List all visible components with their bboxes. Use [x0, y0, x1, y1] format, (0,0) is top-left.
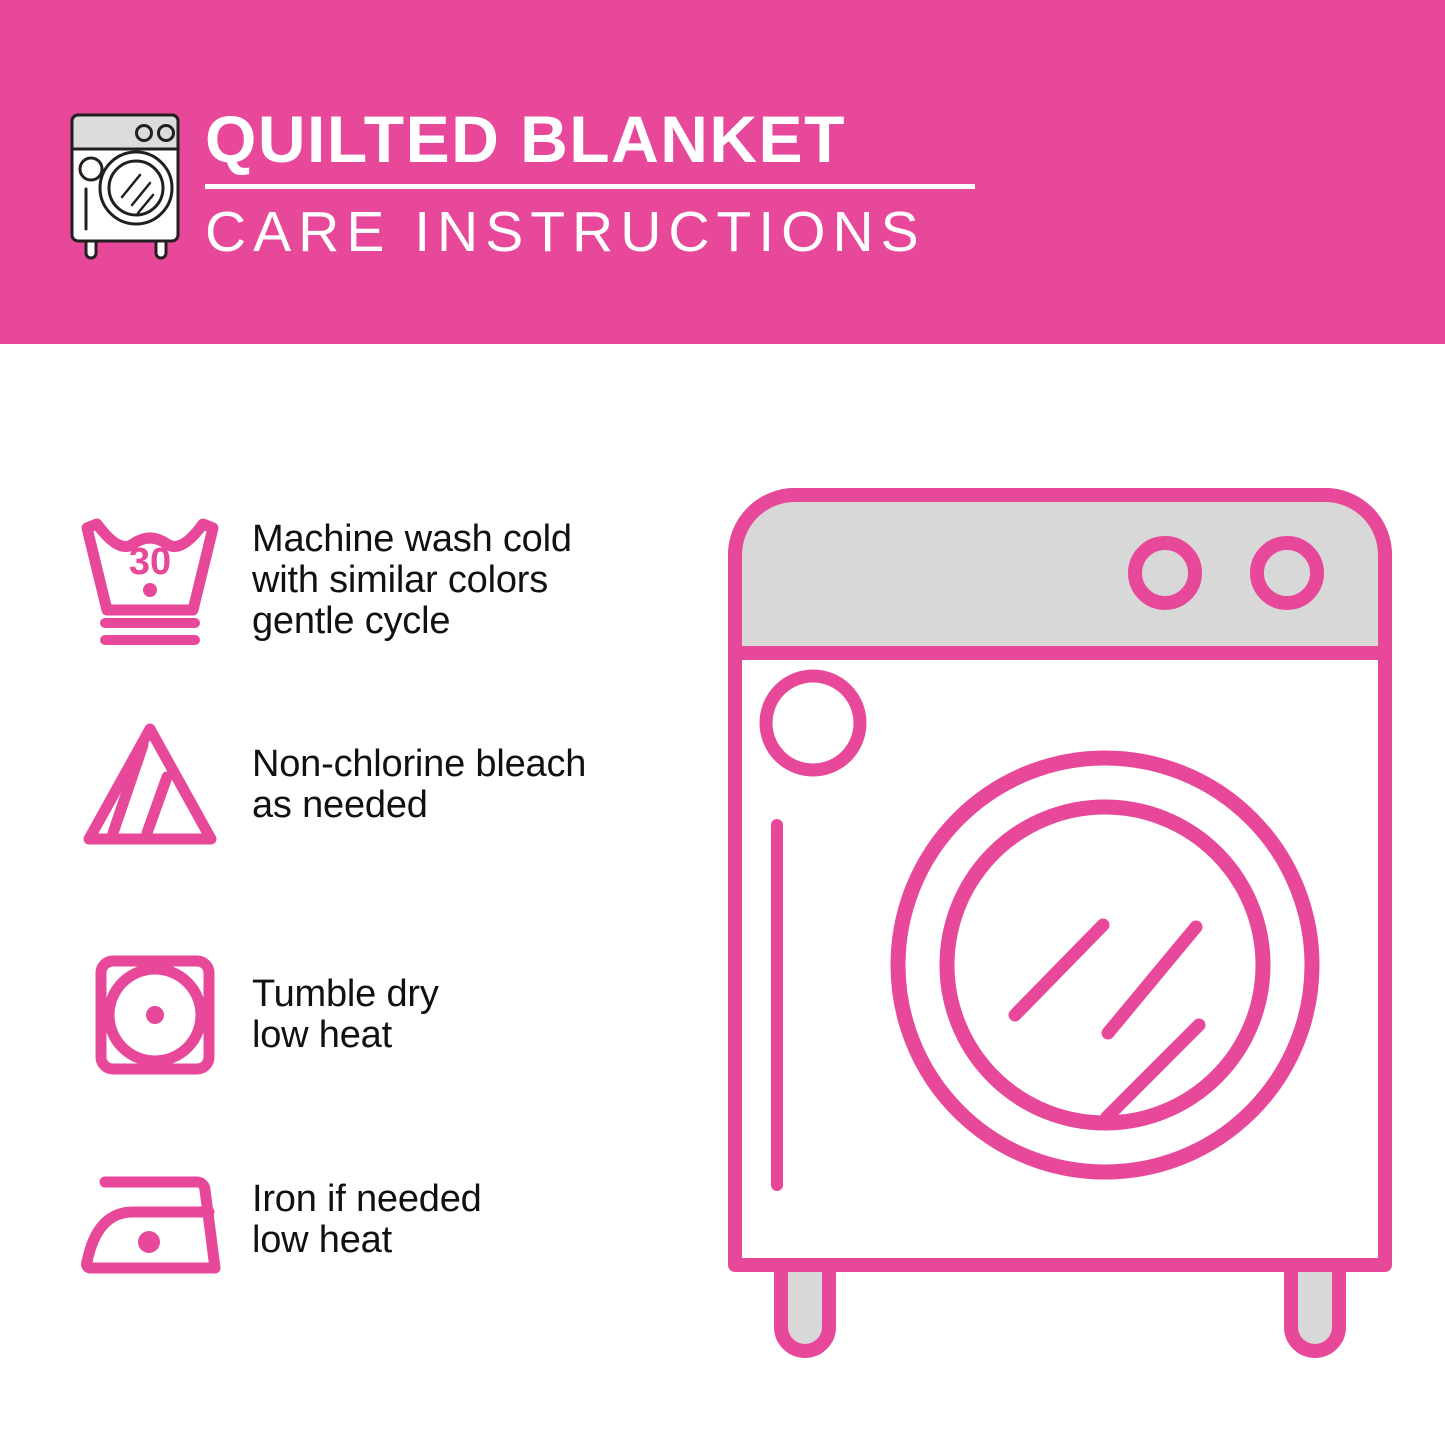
care-instructions-infographic: QUILTED BLANKET CARE INSTRUCTIONS 30 Mac…	[0, 0, 1445, 1445]
care-line: Tumble dry	[252, 974, 439, 1015]
care-row-bleach: Non-chlorine bleach as needed	[60, 705, 680, 865]
washing-machine-logo-icon	[60, 103, 190, 263]
care-line: Iron if needed	[252, 1179, 482, 1220]
header-banner: QUILTED BLANKET CARE INSTRUCTIONS	[0, 0, 1445, 344]
care-line: low heat	[252, 1015, 439, 1056]
care-text-machine-wash: Machine wash cold with similar colors ge…	[240, 519, 572, 642]
care-line: with similar colors	[252, 560, 572, 601]
header-text-block: QUILTED BLANKET CARE INSTRUCTIONS	[205, 100, 995, 265]
svg-text:30: 30	[129, 541, 171, 583]
care-line: low heat	[252, 1220, 482, 1261]
wash-tub-30-gentle-icon: 30	[60, 510, 240, 650]
large-washing-machine-illustration	[725, 485, 1395, 1365]
page-title: QUILTED BLANKET	[205, 100, 995, 178]
page-subtitle: CARE INSTRUCTIONS	[205, 199, 995, 265]
care-row-iron: Iron if needed low heat	[60, 1140, 680, 1300]
care-line: Machine wash cold	[252, 519, 572, 560]
care-text-tumble-dry: Tumble dry low heat	[240, 974, 439, 1056]
title-divider	[205, 184, 975, 189]
care-text-bleach: Non-chlorine bleach as needed	[240, 744, 586, 826]
care-text-iron: Iron if needed low heat	[240, 1179, 482, 1261]
tumble-dry-low-heat-icon	[60, 945, 240, 1085]
non-chlorine-bleach-triangle-icon	[60, 715, 240, 855]
iron-low-heat-icon	[60, 1150, 240, 1290]
care-line: gentle cycle	[252, 601, 572, 642]
care-line: as needed	[252, 785, 586, 826]
care-row-machine-wash: 30 Machine wash cold with similar colors…	[60, 500, 680, 660]
care-row-tumble-dry: Tumble dry low heat	[60, 935, 680, 1095]
care-line: Non-chlorine bleach	[252, 744, 586, 785]
